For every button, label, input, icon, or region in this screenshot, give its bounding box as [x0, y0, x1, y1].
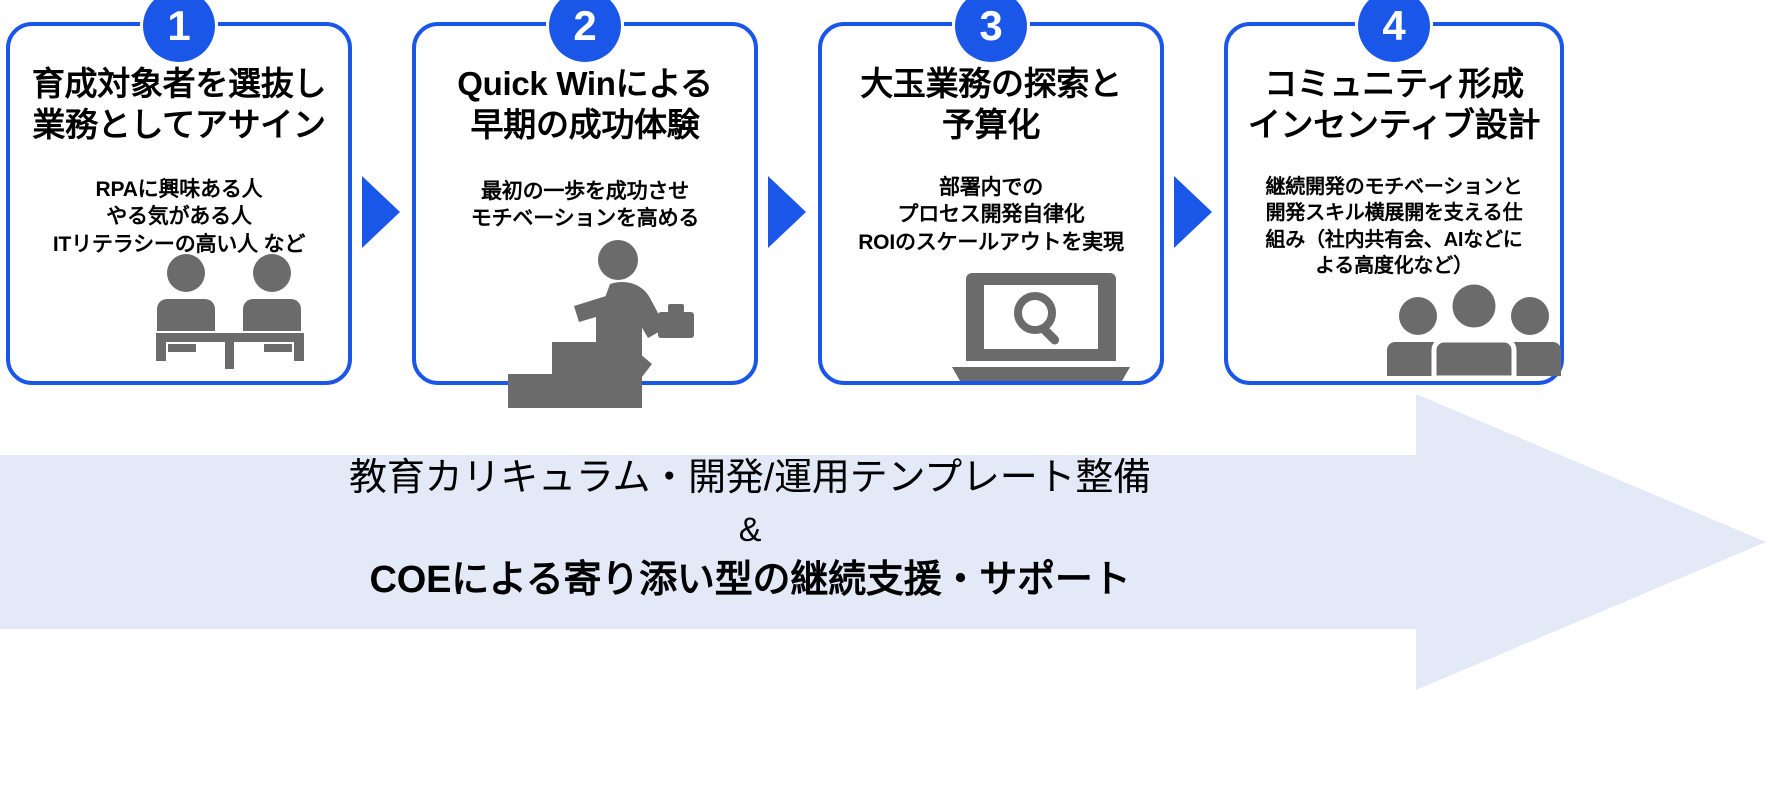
people-at-table-icon — [134, 249, 334, 379]
step-card-4[interactable]: 4 コミュニティ形成 インセンティブ設計 継続開発のモチベーションと 開発スキル… — [1224, 22, 1564, 385]
step-description-4: 継続開発のモチベーションと 開発スキル横展開を支える仕 組み（社内共有会、AIな… — [1238, 174, 1550, 280]
step-card-2[interactable]: 2 Quick Winによる 早期の成功体験 最初の一歩を成功させ モチベーショ… — [412, 22, 758, 385]
banner-line-1: 教育カリキュラム・開発/運用テンプレート整備 — [0, 452, 1500, 506]
arrow-step2-to-step3 — [768, 176, 806, 248]
support-banner: 教育カリキュラム・開発/運用テンプレート整備 & COEによる寄り添い型の継続支… — [0, 392, 1770, 692]
step-number-badge-1: 1 — [143, 0, 215, 62]
step-card-2-inner: 2 Quick Winによる 早期の成功体験 最初の一歩を成功させ モチベーショ… — [416, 26, 754, 381]
step-description-1: RPAに興味ある人 やる気がある人 ITリテラシーの高い人 など — [20, 176, 338, 258]
laptop-search-icon — [946, 267, 1136, 387]
banner-line-3: COEによる寄り添い型の継続支援・サポート — [0, 554, 1500, 608]
process-diagram: 1 育成対象者を選抜し 業務としてアサイン RPAに興味ある人 やる気がある人 … — [0, 0, 1770, 792]
step-number-badge-2: 2 — [549, 0, 621, 62]
banner-line-2: & — [0, 506, 1500, 554]
step-description-2: 最初の一歩を成功させ モチベーションを高める — [426, 178, 744, 233]
step-number-badge-3: 3 — [955, 0, 1027, 62]
banner-text-block: 教育カリキュラム・開発/運用テンプレート整備 & COEによる寄り添い型の継続支… — [0, 452, 1500, 608]
step-description-3: 部署内での プロセス開発自律化 ROIのスケールアウトを実現 — [832, 174, 1150, 256]
arrow-step3-to-step4 — [1174, 176, 1212, 248]
step-card-3[interactable]: 3 大玉業務の探索と 予算化 部署内での プロセス開発自律化 ROIのスケールア… — [818, 22, 1164, 385]
step-title-4: コミュニティ形成 インセンティブ設計 — [1234, 64, 1554, 146]
step-card-1-inner: 1 育成対象者を選抜し 業務としてアサイン RPAに興味ある人 やる気がある人 … — [10, 26, 348, 381]
step-card-1[interactable]: 1 育成対象者を選抜し 業務としてアサイン RPAに興味ある人 やる気がある人 … — [6, 22, 352, 385]
step-title-2: Quick Winによる 早期の成功体験 — [422, 64, 748, 146]
step-title-1: 育成対象者を選抜し 業務としてアサイン — [16, 64, 342, 146]
group-of-people-icon — [1382, 282, 1572, 387]
arrow-step1-to-step2 — [362, 176, 400, 248]
step-card-3-inner: 3 大玉業務の探索と 予算化 部署内での プロセス開発自律化 ROIのスケールア… — [822, 26, 1160, 381]
step-title-3: 大玉業務の探索と 予算化 — [828, 64, 1154, 146]
person-climbing-stairs-icon — [506, 238, 736, 413]
step-card-4-inner: 4 コミュニティ形成 インセンティブ設計 継続開発のモチベーションと 開発スキル… — [1228, 26, 1560, 381]
step-number-badge-4: 4 — [1358, 0, 1430, 62]
